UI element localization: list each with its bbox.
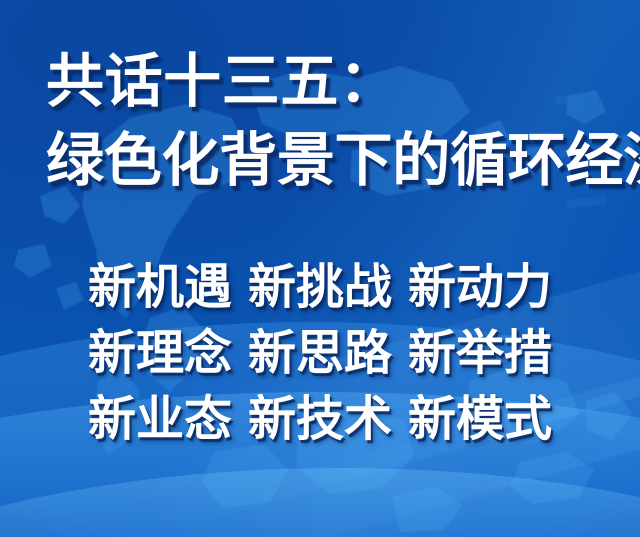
subline-2-part-3: 新举措 bbox=[408, 327, 552, 380]
subline-row-1: 新机遇新挑战新动力 bbox=[0, 262, 640, 314]
subline-3-part-1: 新业态 bbox=[88, 393, 232, 446]
subline-3-part-2: 新技术 bbox=[248, 393, 392, 446]
subline-1-part-1: 新机遇 bbox=[88, 261, 232, 314]
subline-1-part-2: 新挑战 bbox=[248, 261, 392, 314]
subline-1-part-3: 新动力 bbox=[408, 261, 552, 314]
subline-row-2: 新理念新思路新举措 bbox=[0, 328, 640, 380]
poster-banner: 共话十三五： 绿色化背景下的循环经济 新机遇新挑战新动力 新理念新思路新举措 新… bbox=[0, 0, 640, 537]
subline-3-part-3: 新模式 bbox=[408, 393, 552, 446]
headline-line-1: 共话十三五： bbox=[46, 50, 640, 114]
subline-2-part-2: 新思路 bbox=[248, 327, 392, 380]
subline-row-3: 新业态新技术新模式 bbox=[0, 394, 640, 446]
headline-line-2: 绿色化背景下的循环经济 bbox=[46, 129, 640, 193]
subline-2-part-1: 新理念 bbox=[88, 327, 232, 380]
poster-content: 共话十三五： 绿色化背景下的循环经济 新机遇新挑战新动力 新理念新思路新举措 新… bbox=[0, 0, 640, 537]
